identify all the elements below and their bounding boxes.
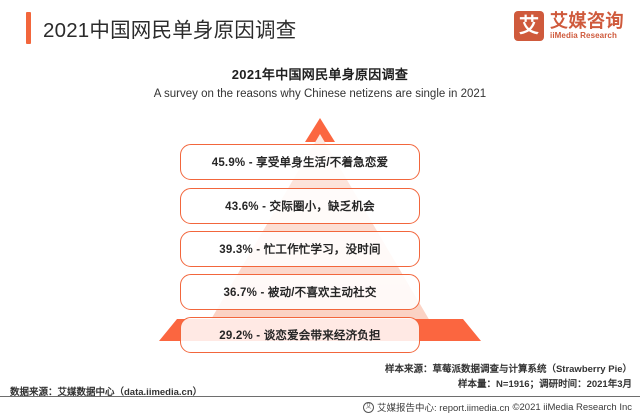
footer-divider (0, 396, 640, 397)
logo-name-cn: 艾媒咨询 (550, 12, 624, 31)
report-center-link[interactable]: 艾媒报告中心: report.iimedia.cn (377, 400, 510, 414)
page-title: 2021中国网民单身原因调查 (43, 13, 296, 43)
pyramid-row-2[interactable]: 43.6% - 交际圈小，缺乏机会 (180, 188, 420, 224)
sample-info: 样本来源：草莓派数据调查与计算系统（Strawberry Pie） 样本量：N=… (385, 362, 632, 392)
pyramid-row-label: 29.2% - 谈恋爱会带来经济负担 (219, 327, 380, 343)
header-accent-bar (26, 12, 31, 44)
brand-logo: 艾 艾媒咨询 iiMedia Research (514, 11, 624, 41)
pyramid-row-label: 45.9% - 享受单身生活/不着急恋爱 (212, 154, 389, 170)
pyramid-row-5[interactable]: 29.2% - 谈恋爱会带来经济负担 (180, 317, 420, 353)
chart-title: 2021年中国网民单身原因调查 (0, 64, 640, 83)
footer-copyright: 艾 艾媒报告中心: report.iimedia.cn ©2021 iiMedi… (363, 400, 632, 414)
pyramid-row-label: 43.6% - 交际圈小，缺乏机会 (225, 198, 375, 214)
copyright-text: ©2021 iiMedia Research Inc (513, 402, 632, 413)
pyramid-row-label: 36.7% - 被动/不喜欢主动社交 (223, 284, 376, 300)
pyramid-row-label: 39.3% - 忙工作忙学习，没时间 (219, 241, 380, 257)
sample-size-note: 样本量：N=1916；调研时间：2021年3月 (385, 377, 632, 392)
chart-subtitle: A survey on the reasons why Chinese neti… (0, 88, 640, 100)
pyramid-row-4[interactable]: 36.7% - 被动/不喜欢主动社交 (180, 274, 420, 310)
pyramid-row-1[interactable]: 45.9% - 享受单身生活/不着急恋爱 (180, 144, 420, 180)
logo-name-en: iiMedia Research (550, 32, 624, 40)
sample-source-note: 样本来源：草莓派数据调查与计算系统（Strawberry Pie） (385, 362, 632, 377)
pyramid-chart: 45.9% - 享受单身生活/不着急恋爱 43.6% - 交际圈小，缺乏机会 3… (0, 112, 640, 347)
brand-badge-icon: 艾 (363, 402, 374, 413)
pyramid-row-3[interactable]: 39.3% - 忙工作忙学习，没时间 (180, 231, 420, 267)
logo-text: 艾媒咨询 iiMedia Research (550, 12, 624, 40)
logo-mark-icon: 艾 (514, 11, 544, 41)
